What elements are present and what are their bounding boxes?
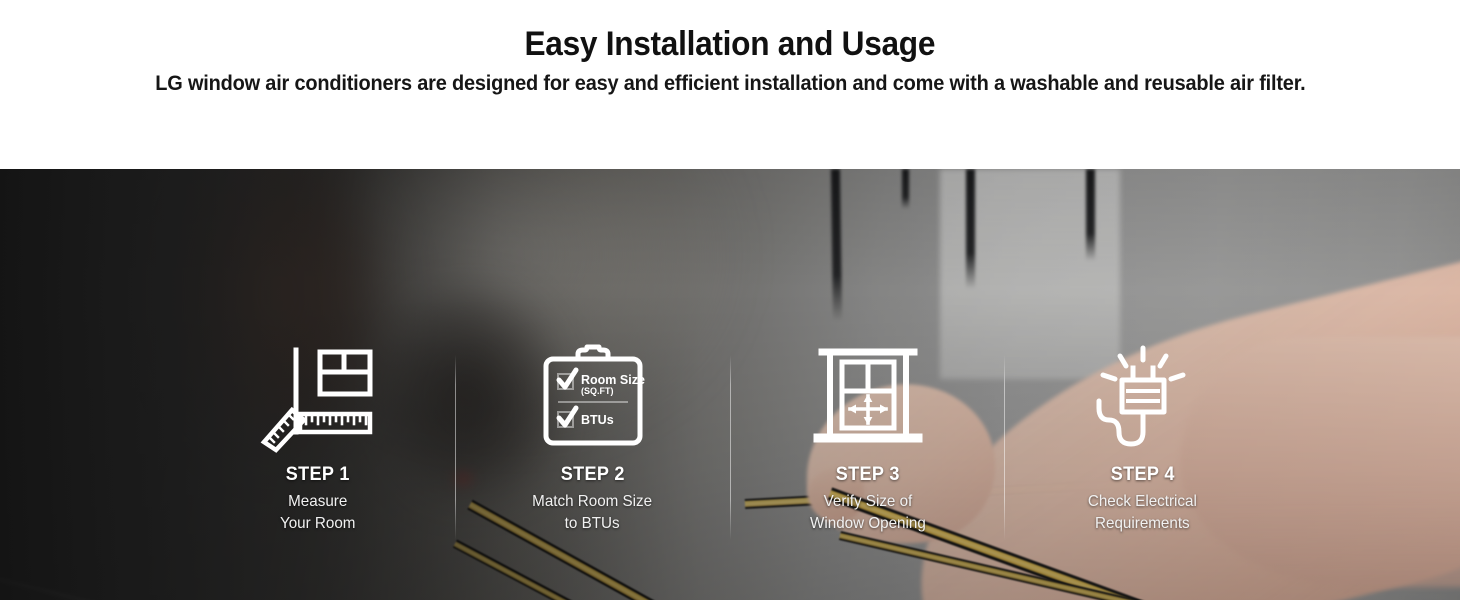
page-title: Easy Installation and Usage [525,25,936,64]
step-item-3: STEP 3 Verify Size of Window Opening [730,169,1005,534]
step-description-line: Measure [280,491,355,513]
step-description-line: Your Room [280,513,355,535]
step-item-2: Room Size (SQ.FT) BTUs STEP 2 Match Room… [455,169,730,534]
step-description: Verify Size of Window Opening [810,491,926,534]
step-divider [1004,355,1005,540]
step-divider [455,355,456,540]
window-dimensions-arrows-icon [816,348,920,448]
step-description-line: Window Opening [810,513,926,535]
ruler-window-measure-icon [262,348,374,448]
step-title: STEP 1 [285,464,349,486]
page-subtitle: LG window air conditioners are designed … [155,72,1305,96]
step-description-line: Check Electrical [1088,491,1197,513]
step-title: STEP 4 [1110,464,1174,486]
step-description: Check Electrical Requirements [1088,491,1197,534]
step-description-line: to BTUs [533,513,653,535]
section-header: Easy Installation and Usage LG window ai… [0,0,1460,169]
step-title: STEP 2 [560,464,624,486]
step-item-4: STEP 4 Check Electrical Requirements [1005,169,1280,534]
step-item-1: STEP 1 Measure Your Room [180,169,455,534]
checklist-label-room-size: Room Size [581,373,645,387]
step-description: Measure Your Room [280,491,355,534]
hero-photo: STEP 1 Measure Your Room [0,169,1460,600]
step-description-line: Verify Size of [810,491,926,513]
installation-usage-section: Easy Installation and Usage LG window ai… [0,0,1460,600]
checklist-label-btus: BTUs [581,413,614,427]
steps-overlay: STEP 1 Measure Your Room [0,169,1460,600]
step-divider [730,355,731,540]
checklist-sublabel-sqft: (SQ.FT) [581,386,614,396]
step-description: Match Room Size to BTUs [533,491,653,534]
step-description-line: Requirements [1088,513,1197,535]
electrical-plug-icon [1095,348,1191,448]
clipboard-checklist-icon: Room Size (SQ.FT) BTUs [540,348,646,448]
step-title: STEP 3 [835,464,899,486]
step-description-line: Match Room Size [533,491,653,513]
